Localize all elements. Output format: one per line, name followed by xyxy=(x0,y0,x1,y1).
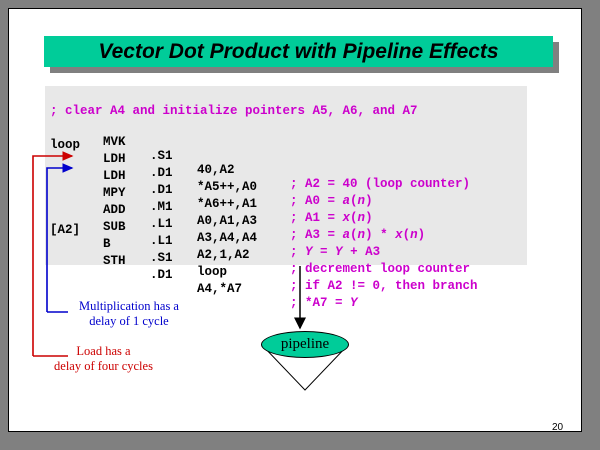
load-delay-line-2: delay of four cycles xyxy=(36,359,171,374)
multiplication-delay-line-1: Multiplication has a xyxy=(69,299,189,314)
title-bar: Vector Dot Product with Pipeline Effects xyxy=(44,36,553,67)
code-line: ADD .L1 A3,A4,A4 ; Y = Y + A3 xyxy=(45,175,527,192)
code-line: STH .D1 A4,*A7 ; *A7 = Y xyxy=(45,226,527,243)
code-unit: .D1 xyxy=(150,268,173,282)
assembly-code-block: ; clear A4 and initialize pointers A5, A… xyxy=(45,86,527,265)
code-comment: ; Y = Y + A3 xyxy=(290,245,380,259)
code-line: MVK .S1 40,A2 ; A2 = 40 (loop counter) xyxy=(45,107,527,124)
code-unit: .S1 xyxy=(150,251,173,265)
code-operands: loop xyxy=(197,265,227,279)
page-number: 20 xyxy=(552,422,563,433)
multiplication-delay-line-2: delay of 1 cycle xyxy=(69,314,189,329)
load-delay-line-1: Load has a xyxy=(36,344,171,359)
code-operands: A2,1,A2 xyxy=(197,248,250,262)
code-line: MPY .M1 A0,A1,A3 ; A3 = a(n) * x(n) xyxy=(45,158,527,175)
code-comment: ; if A2 != 0, then branch xyxy=(290,279,478,293)
page-title: Vector Dot Product with Pipeline Effects xyxy=(98,40,498,64)
pipeline-shape: pipeline xyxy=(252,330,358,392)
pipeline-label: pipeline xyxy=(281,336,329,353)
code-mnemonic: STH xyxy=(103,254,126,268)
code-line: [A2] B .S1 loop ; if A2 != 0, then branc… xyxy=(45,209,527,226)
code-line: loop LDH .D1 *A5++,A0 ; A0 = a(n) xyxy=(45,124,527,141)
code-line-header: ; clear A4 and initialize pointers A5, A… xyxy=(45,90,527,107)
pipeline-ellipse: pipeline xyxy=(261,331,349,358)
code-comment: ; *A7 = Y xyxy=(290,296,358,310)
load-delay-annotation: Load has a delay of four cycles xyxy=(36,344,171,374)
code-line: SUB .L1 A2,1,A2 ; decrement loop counter xyxy=(45,192,527,209)
code-comment: ; decrement loop counter xyxy=(290,262,470,276)
multiplication-delay-annotation: Multiplication has a delay of 1 cycle xyxy=(69,299,189,329)
code-line: LDH .D1 *A6++,A1 ; A1 = x(n) xyxy=(45,141,527,158)
slide-root: Vector Dot Product with Pipeline Effects… xyxy=(0,0,600,450)
code-operands: A4,*A7 xyxy=(197,282,242,296)
